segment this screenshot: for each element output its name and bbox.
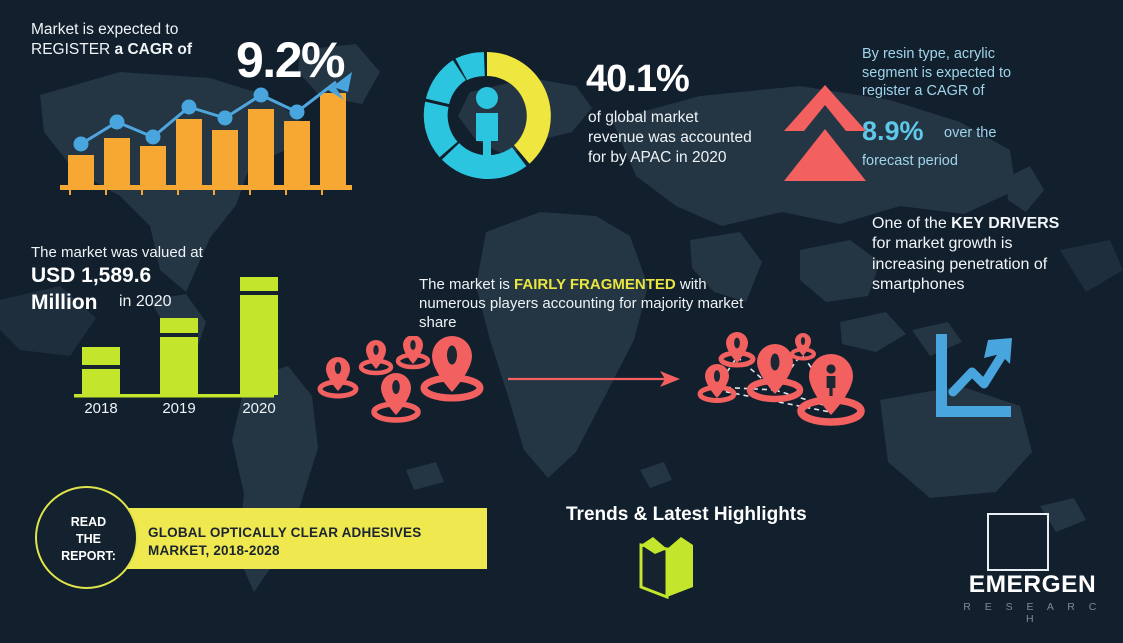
- resin-line1: By resin type, acrylic: [862, 46, 995, 62]
- green-baseline: [74, 394, 274, 398]
- donut-slice-apac: [487, 52, 551, 164]
- map-pin-icon: [361, 340, 391, 373]
- market-value-bar-chart: 2018 2019 2020: [70, 260, 300, 420]
- map-pin-icon: [320, 357, 356, 396]
- person-icon: [476, 87, 498, 159]
- svg-text:2018: 2018: [84, 400, 117, 417]
- resin-caption: By resin type, acrylic segment is expect…: [862, 45, 1062, 101]
- apac-donut-chart: [413, 42, 561, 190]
- green-axis-labels: 2018 2019 2020: [84, 400, 275, 417]
- trends-title: Trends & Latest Highlights: [566, 503, 807, 527]
- double-up-arrow-icon: [782, 83, 868, 183]
- drivers-pre: One of the: [872, 215, 951, 232]
- infographic-canvas: Market is expected to REGISTER a CAGR of…: [0, 0, 1123, 643]
- apac-value: 40.1%: [586, 55, 689, 104]
- growth-bar-chart: [60, 60, 360, 195]
- map-pin-icon: [792, 333, 814, 359]
- report-title-line1: GLOBAL OPTICALLY CLEAR ADHESIVES: [148, 525, 421, 540]
- read-report-label: READ THE REPORT:: [37, 488, 140, 591]
- map-pin-icon: [801, 354, 861, 422]
- read-report-line2: THE: [76, 532, 101, 546]
- read-report-line1: READ: [71, 515, 106, 529]
- report-title-line2: MARKET, 2018-2028: [148, 543, 280, 558]
- drivers-highlight: KEY DRIVERS: [951, 215, 1059, 232]
- bar-baseline: [60, 185, 352, 195]
- connected-map-pins: [695, 332, 875, 437]
- fragmented-pre: The market is: [419, 276, 514, 293]
- resin-tail: over the: [944, 124, 1064, 143]
- square-outline-icon: [987, 513, 1049, 571]
- read-report-button[interactable]: READ THE REPORT:: [35, 486, 138, 589]
- cagr-caption-line2-bold: a CAGR of: [115, 41, 193, 58]
- resin-line2: segment is expected to: [862, 65, 1011, 81]
- logo-subtext: R E S E A R C H: [955, 601, 1110, 625]
- fragmented-highlight: FAIRLY FRAGMENTED: [514, 276, 676, 293]
- growth-chart-arrow-icon: [928, 330, 1018, 425]
- cagr-caption-line1: Market is expected to: [31, 21, 178, 38]
- open-book-icon: [637, 535, 697, 600]
- report-title: GLOBAL OPTICALLY CLEAR ADHESIVES MARKET,…: [148, 524, 478, 560]
- map-pin-icon: [398, 336, 428, 367]
- map-pin-icon: [424, 336, 480, 398]
- fragmented-caption: The market is FAIRLY FRAGMENTED with num…: [419, 275, 749, 333]
- logo-wordmark: EMERGEN: [955, 571, 1110, 599]
- map-pin-icon: [721, 332, 753, 365]
- scattered-map-pins: [315, 336, 505, 431]
- donut-slice-row-2: [424, 102, 458, 158]
- resin-value: 8.9%: [862, 114, 924, 149]
- right-arrow-icon: [508, 370, 680, 388]
- drivers-post: for market growth is increasing penetrat…: [872, 235, 1047, 293]
- resin-line3: register a CAGR of: [862, 83, 985, 99]
- apac-caption: of global market revenue was accounted f…: [588, 108, 753, 167]
- cagr-caption-line2: REGISTER: [31, 41, 115, 58]
- key-drivers-caption: One of the KEY DRIVERS for market growth…: [872, 214, 1068, 296]
- map-pin-icon: [374, 373, 418, 420]
- svg-text:2019: 2019: [162, 400, 195, 417]
- resin-tail2: forecast period: [862, 152, 1062, 171]
- cagr-caption: Market is expected to REGISTER a CAGR of: [31, 20, 221, 60]
- green-bars: [82, 277, 278, 395]
- svg-text:2020: 2020: [242, 400, 275, 417]
- read-report-line3: REPORT:: [61, 549, 116, 563]
- emergen-research-logo: EMERGEN R E S E A R C H: [955, 513, 1110, 618]
